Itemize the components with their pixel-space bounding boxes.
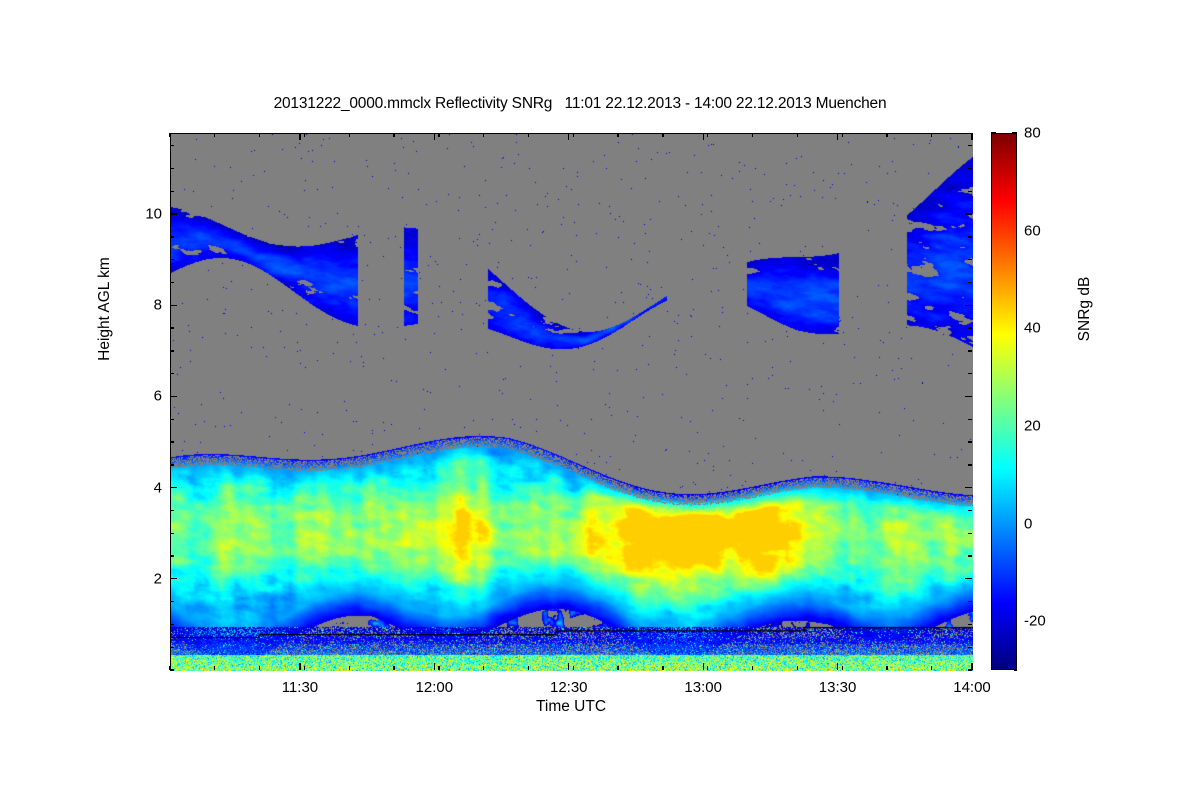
y-tick-minor-right — [968, 373, 972, 374]
y-tick-minor-right — [968, 533, 972, 534]
x-tick-minor — [528, 666, 529, 670]
colorbar-tick-label: -20 — [1024, 613, 1046, 630]
radar-heatmap-canvas — [171, 134, 973, 671]
x-tick-label: 11:30 — [282, 679, 318, 696]
y-tick-minor-right — [968, 282, 972, 283]
x-tick-minor — [752, 666, 753, 670]
x-tick-minor-top — [617, 133, 618, 137]
x-tick-minor — [707, 666, 708, 670]
y-tick-label: 6 — [126, 388, 162, 405]
y-tick-minor — [170, 555, 174, 556]
x-tick-major — [837, 663, 838, 670]
x-tick-minor — [438, 666, 439, 670]
y-tick-minor — [170, 350, 174, 351]
x-tick-minor-top — [752, 133, 753, 137]
y-tick-major — [170, 305, 177, 306]
y-tick-major-right — [965, 305, 972, 306]
x-tick-label: 12:00 — [416, 679, 454, 696]
y-tick-major — [170, 487, 177, 488]
x-tick-major-top — [837, 133, 838, 140]
x-tick-major-top — [971, 133, 972, 140]
y-tick-label: 10 — [126, 206, 162, 223]
y-tick-minor — [170, 236, 174, 237]
y-tick-minor-right — [968, 510, 972, 511]
x-tick-minor-top — [483, 133, 484, 137]
x-tick-minor-top — [842, 133, 843, 137]
y-tick-minor-right — [968, 145, 972, 146]
x-tick-minor-top — [931, 133, 932, 137]
x-tick-major-top — [299, 133, 300, 140]
y-tick-major — [170, 396, 177, 397]
x-tick-label: 13:00 — [684, 679, 722, 696]
y-axis-label: Height AGL km — [96, 199, 114, 419]
y-tick-minor — [170, 669, 174, 670]
y-tick-minor-right — [968, 168, 972, 169]
y-tick-minor-right — [968, 464, 972, 465]
y-tick-major — [170, 578, 177, 579]
colorbar-tick-label: 60 — [1024, 222, 1041, 239]
y-tick-minor-right — [968, 647, 972, 648]
y-tick-minor-right — [968, 624, 972, 625]
x-tick-minor-top — [169, 133, 170, 137]
y-tick-minor — [170, 601, 174, 602]
x-tick-major-top — [568, 133, 569, 140]
y-tick-minor — [170, 373, 174, 374]
x-tick-minor-top — [259, 133, 260, 137]
x-tick-major — [434, 663, 435, 670]
y-tick-minor — [170, 419, 174, 420]
y-tick-major-right — [965, 396, 972, 397]
colorbar-tick-label: 20 — [1024, 417, 1041, 434]
x-tick-minor — [349, 666, 350, 670]
x-tick-major-top — [434, 133, 435, 140]
x-tick-minor-top — [707, 133, 708, 137]
y-tick-minor-right — [968, 555, 972, 556]
x-tick-minor-top — [438, 133, 439, 137]
y-tick-minor-right — [968, 236, 972, 237]
x-tick-label: 14:00 — [953, 679, 991, 696]
y-tick-minor-right — [968, 350, 972, 351]
x-tick-minor — [393, 666, 394, 670]
x-tick-minor-top — [349, 133, 350, 137]
x-tick-minor-top — [393, 133, 394, 137]
y-tick-label: 8 — [126, 297, 162, 314]
colorbar-tick-label: 40 — [1024, 320, 1041, 337]
y-tick-major-right — [965, 578, 972, 579]
y-tick-minor — [170, 282, 174, 283]
x-tick-minor-top — [528, 133, 529, 137]
x-tick-major — [703, 663, 704, 670]
y-tick-minor — [170, 510, 174, 511]
y-tick-minor — [170, 259, 174, 260]
x-tick-minor-top — [886, 133, 887, 137]
page-title: 20131222_0000.mmclx Reflectivity SNRg 11… — [0, 95, 1160, 113]
x-tick-major — [568, 663, 569, 670]
y-tick-minor — [170, 647, 174, 648]
x-tick-minor — [304, 666, 305, 670]
y-tick-minor — [170, 441, 174, 442]
colorbar-gradient — [992, 134, 1016, 669]
y-tick-minor-right — [968, 601, 972, 602]
y-tick-major-right — [965, 487, 972, 488]
y-tick-label: 4 — [126, 479, 162, 496]
y-tick-minor — [170, 145, 174, 146]
plot-area[interactable] — [170, 133, 972, 670]
y-tick-minor — [170, 533, 174, 534]
colorbar[interactable] — [991, 133, 1017, 670]
y-tick-minor-right — [968, 191, 972, 192]
x-tick-minor — [662, 666, 663, 670]
x-tick-minor — [483, 666, 484, 670]
y-tick-major-right — [965, 213, 972, 214]
y-tick-minor — [170, 191, 174, 192]
x-tick-minor-top — [573, 133, 574, 137]
y-tick-minor-right — [968, 441, 972, 442]
y-tick-minor-right — [968, 669, 972, 670]
y-tick-minor — [170, 168, 174, 169]
radar-figure: 20131222_0000.mmclx Reflectivity SNRg 11… — [0, 0, 1200, 800]
colorbar-label: SNRg dB — [1076, 199, 1094, 419]
y-tick-minor — [170, 624, 174, 625]
colorbar-tick-label: 80 — [1024, 125, 1041, 142]
colorbar-tick-label: 0 — [1024, 515, 1032, 532]
x-tick-minor — [617, 666, 618, 670]
y-tick-minor — [170, 464, 174, 465]
x-tick-minor — [797, 666, 798, 670]
x-axis-label: Time UTC — [170, 698, 972, 716]
y-tick-label: 2 — [126, 570, 162, 587]
y-tick-minor-right — [968, 259, 972, 260]
x-tick-label: 12:30 — [550, 679, 588, 696]
x-tick-minor-top — [304, 133, 305, 137]
x-tick-minor-top — [662, 133, 663, 137]
x-tick-minor — [259, 666, 260, 670]
x-tick-minor — [842, 666, 843, 670]
x-tick-minor — [886, 666, 887, 670]
x-tick-minor-top — [797, 133, 798, 137]
y-tick-minor — [170, 327, 174, 328]
x-tick-minor — [214, 666, 215, 670]
x-tick-minor — [573, 666, 574, 670]
y-tick-minor-right — [968, 419, 972, 420]
x-tick-minor — [931, 666, 932, 670]
y-tick-major — [170, 213, 177, 214]
x-tick-minor-top — [214, 133, 215, 137]
x-tick-major — [299, 663, 300, 670]
x-tick-label: 13:30 — [819, 679, 857, 696]
x-tick-major-top — [703, 133, 704, 140]
y-tick-minor-right — [968, 327, 972, 328]
